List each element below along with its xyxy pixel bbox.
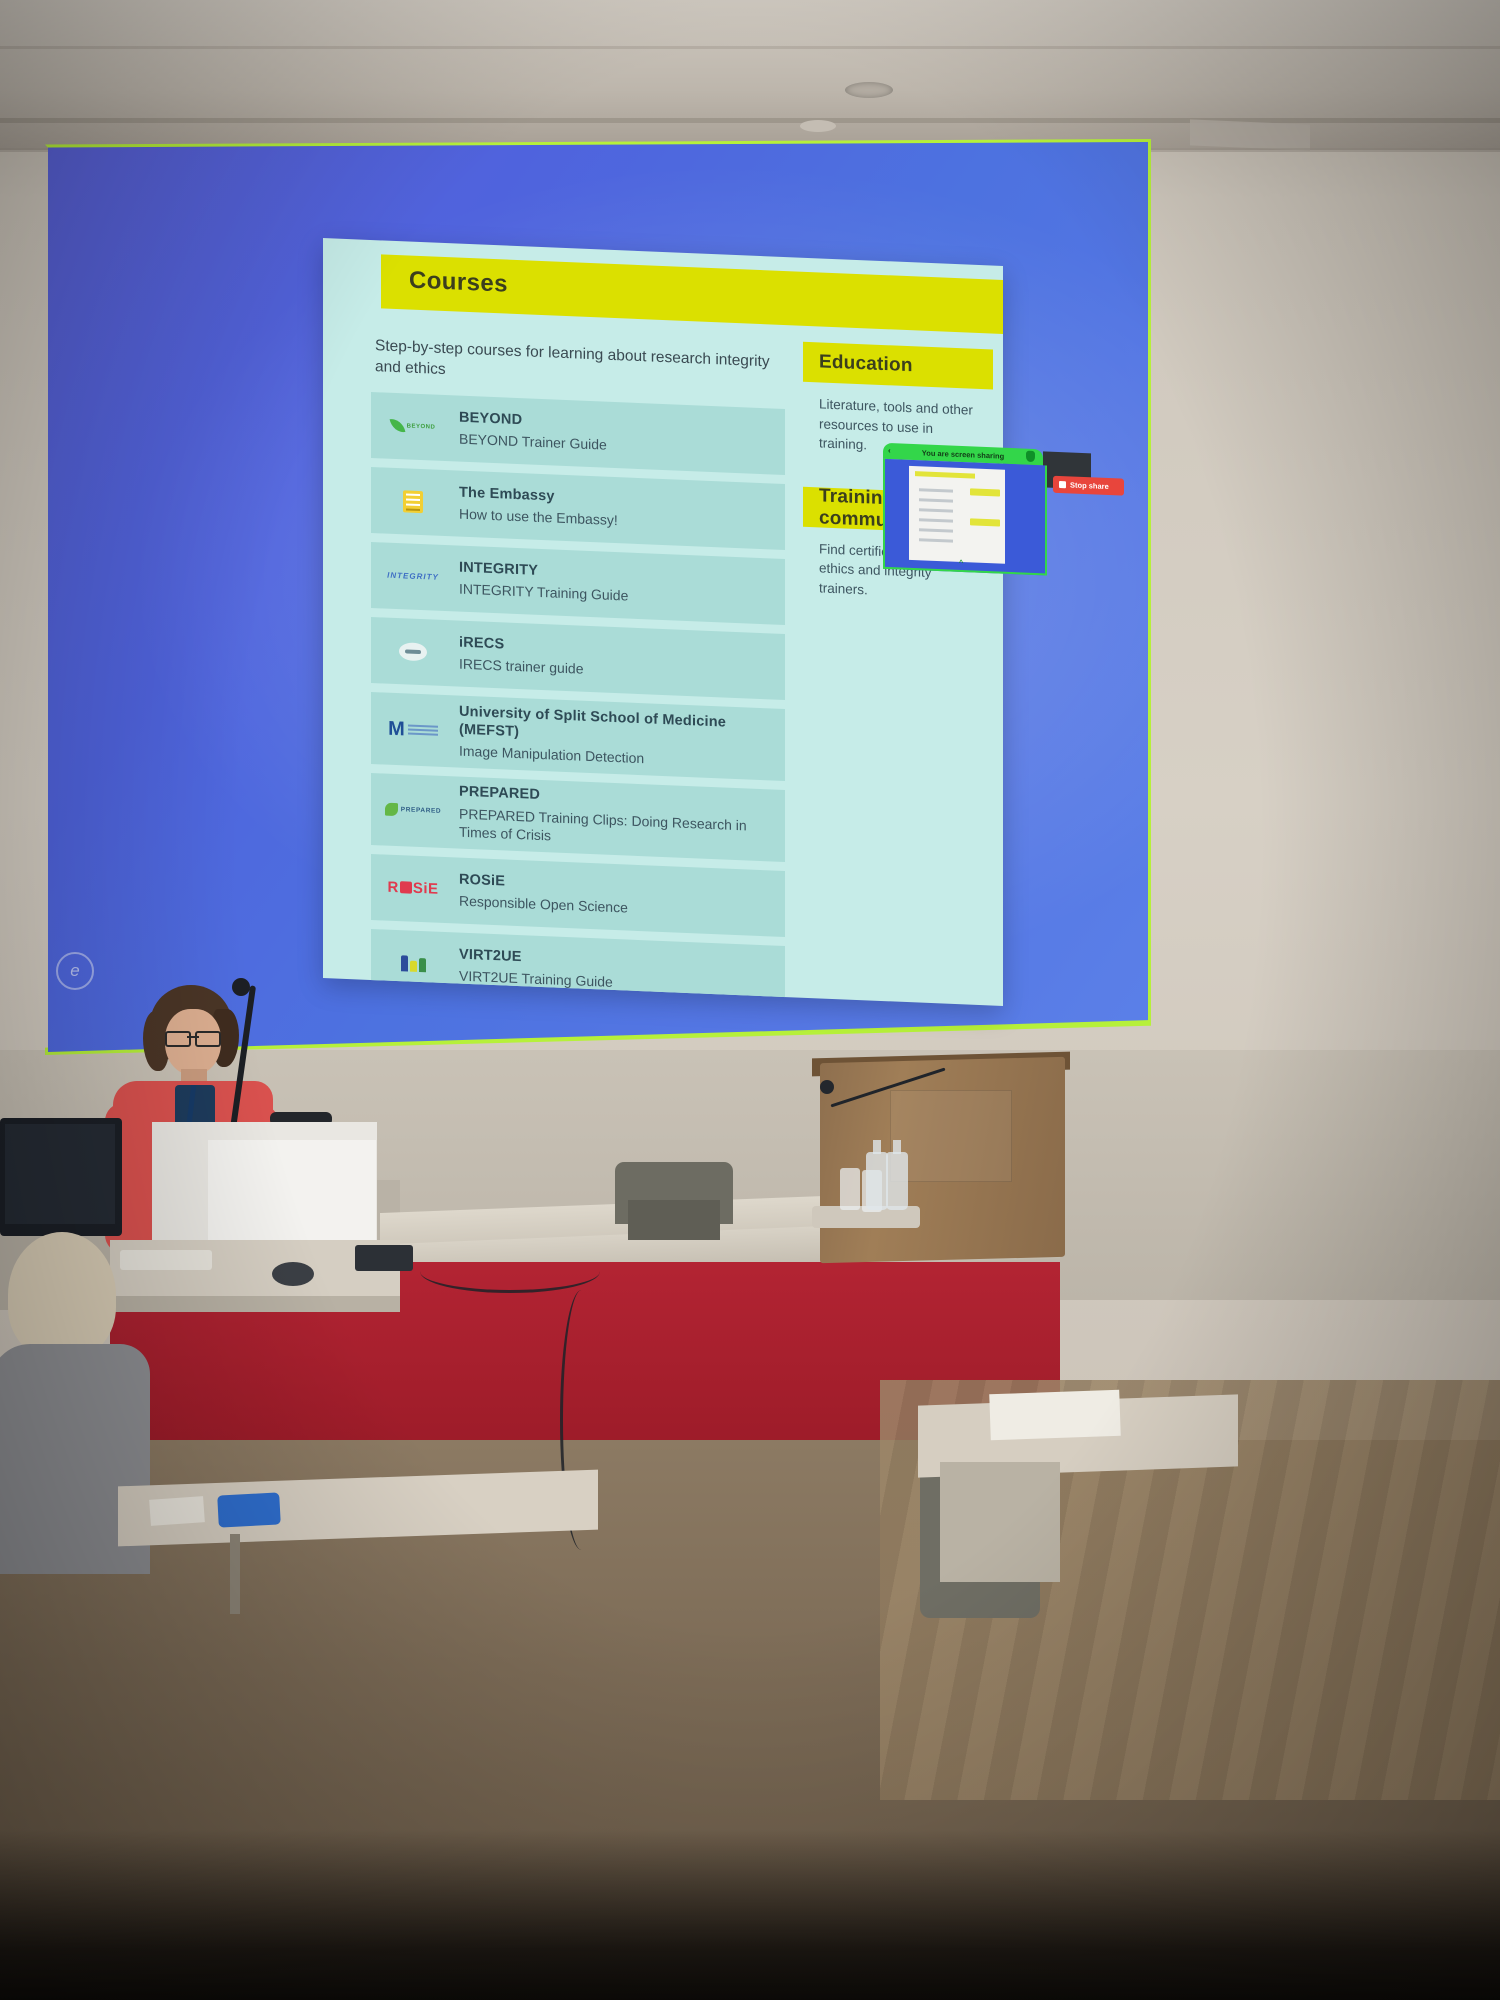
- chevron-left-icon[interactable]: ‹: [888, 446, 891, 455]
- course-list-item-embassy[interactable]: The Embassy How to use the Embassy!: [371, 467, 785, 550]
- stage-chair-seat: [628, 1200, 720, 1240]
- course-list-item-mefst[interactable]: M University of Split School of Medicine…: [371, 692, 785, 781]
- ceiling-seam-upper: [0, 46, 1500, 49]
- water-bottle-2: [886, 1152, 908, 1210]
- ceiling-vent: [845, 82, 893, 98]
- course-subtitle: How to use the Embassy!: [459, 505, 618, 530]
- course-subtitle: Responsible Open Science: [459, 892, 628, 918]
- caret-up-icon[interactable]: ^: [959, 558, 963, 568]
- water-bottle-1: [866, 1152, 888, 1210]
- stop-icon: [1059, 481, 1066, 488]
- course-name: The Embassy: [459, 483, 618, 508]
- thumbnail-page: [909, 466, 1005, 564]
- course-subtitle: INTEGRITY Training Guide: [459, 580, 628, 606]
- virt2ue-logo: [371, 945, 455, 982]
- course-list-item-integrity[interactable]: INTEGRITY INTEGRITY INTEGRITY Training G…: [371, 542, 785, 625]
- audience-table-leg: [230, 1534, 240, 1614]
- audience-paper: [149, 1496, 205, 1526]
- course-list-item-beyond[interactable]: BEYOND BEYOND BEYOND Trainer Guide: [371, 392, 785, 475]
- lecture-hall-scene: e Courses Step-by-step courses for learn…: [0, 0, 1500, 2000]
- projection-screen: e Courses Step-by-step courses for learn…: [48, 142, 1148, 1052]
- embassy-book-logo: [371, 483, 455, 520]
- screen-watermark: e: [56, 952, 94, 990]
- floor-cable-1: [420, 1250, 600, 1293]
- beyond-logo: BEYOND: [371, 408, 455, 445]
- screen-share-overlay[interactable]: ‹ You are screen sharing ^ Stop share: [883, 443, 1088, 591]
- course-name: VIRT2UE: [459, 945, 613, 969]
- course-subtitle: IRECS trainer guide: [459, 655, 584, 679]
- shield-icon: [1026, 451, 1035, 462]
- screen-sharing-label: You are screen sharing: [922, 448, 1004, 460]
- stop-share-button[interactable]: Stop share: [1053, 476, 1124, 496]
- course-list-item-prepared[interactable]: PREPARED PREPARED PREPARED Training Clip…: [371, 773, 785, 862]
- course-list-item-rosie[interactable]: RSiE ROSiE Responsible Open Science: [371, 854, 785, 937]
- audience-table-right-leg: [940, 1462, 1060, 1582]
- courses-lead-text: Step-by-step courses for learning about …: [375, 336, 795, 395]
- presenter-glasses: [165, 1031, 221, 1043]
- water-glass-1: [840, 1168, 860, 1210]
- ceiling-smoke-detector: [800, 120, 836, 132]
- confidence-monitor-screen: [5, 1124, 115, 1224]
- courses-title-banner: Courses: [381, 254, 1003, 334]
- cable-box: [355, 1245, 413, 1271]
- courses-column: Step-by-step courses for learning about …: [359, 336, 789, 1006]
- audience-paper-right: [989, 1390, 1121, 1441]
- foreground-shadow: [0, 1830, 1500, 2000]
- course-name: iRECS: [459, 633, 584, 656]
- microphone-head: [232, 978, 250, 996]
- mouse[interactable]: [272, 1262, 314, 1286]
- podium-microphone-head: [820, 1080, 834, 1094]
- mefst-logo: M: [371, 711, 455, 748]
- integrity-logo: INTEGRITY: [371, 558, 455, 595]
- stop-share-label: Stop share: [1070, 480, 1109, 491]
- course-name: BEYOND: [459, 408, 607, 432]
- prepared-logo: PREPARED: [371, 792, 455, 829]
- rosie-logo: RSiE: [371, 870, 455, 907]
- ceiling-speaker: [1190, 119, 1310, 150]
- presenter-desk-edge: [110, 1296, 400, 1312]
- audience-head: [8, 1232, 116, 1358]
- shared-screen-thumbnail: ^: [883, 459, 1047, 576]
- course-subtitle: BEYOND Trainer Guide: [459, 430, 607, 455]
- irecs-logo: [371, 633, 455, 670]
- sidebar-heading-education: Education: [803, 342, 993, 390]
- podium-panel: [890, 1090, 1012, 1182]
- course-list-item-irecs[interactable]: iRECS IRECS trainer guide: [371, 617, 785, 700]
- slide-content: Courses Step-by-step courses for learnin…: [323, 238, 1003, 1006]
- page-title: Courses: [409, 267, 508, 299]
- smartphone[interactable]: [217, 1492, 281, 1527]
